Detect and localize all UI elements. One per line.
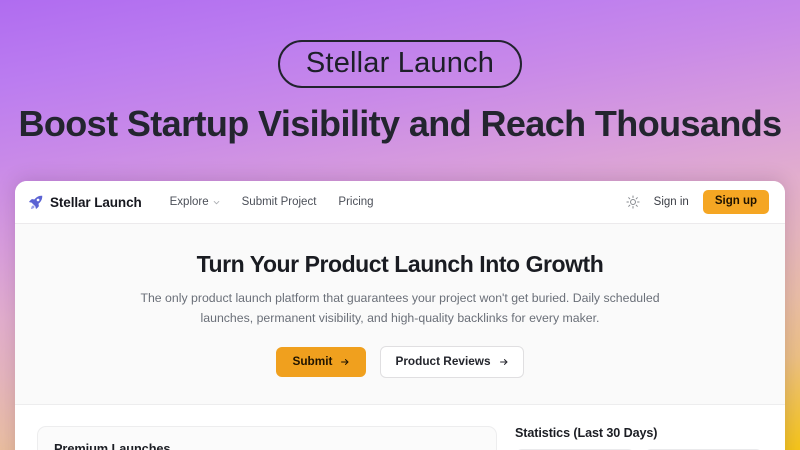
nav-link-pricing[interactable]: Pricing — [338, 196, 373, 208]
promo-headline: Boost Startup Visibility and Reach Thous… — [0, 104, 800, 144]
nav-link-explore-label: Explore — [170, 196, 209, 208]
nav-links: Explore Submit Project Pricing — [170, 196, 374, 208]
brand-pill: Stellar Launch — [278, 40, 522, 88]
content-area: Premium Launches Statistics (Last 30 Day… — [15, 405, 785, 450]
nav-link-submit-project[interactable]: Submit Project — [242, 196, 317, 208]
hero-title: Turn Your Product Launch Into Growth — [15, 251, 785, 277]
app-window: Stellar Launch Explore Submit Project Pr… — [15, 181, 785, 450]
hero-subtitle: The only product launch platform that gu… — [140, 289, 660, 329]
promo-canvas: Stellar Launch Boost Startup Visibility … — [0, 0, 800, 450]
hero-cta-group: Submit Product Reviews — [15, 346, 785, 378]
nav-link-explore[interactable]: Explore — [170, 196, 220, 208]
navbar-actions: Sign in Sign up — [626, 190, 769, 215]
promo-header: Stellar Launch Boost Startup Visibility … — [0, 0, 800, 144]
statistics-title: Statistics (Last 30 Days) — [515, 426, 763, 440]
product-reviews-button[interactable]: Product Reviews — [380, 346, 523, 378]
premium-launches-panel: Premium Launches — [37, 426, 497, 450]
navbar: Stellar Launch Explore Submit Project Pr… — [15, 181, 785, 224]
nav-brand[interactable]: Stellar Launch — [27, 194, 142, 211]
arrow-right-icon — [340, 357, 350, 367]
arrow-right-icon — [499, 357, 509, 367]
hero-section: Turn Your Product Launch Into Growth The… — [15, 224, 785, 405]
signup-button[interactable]: Sign up — [703, 190, 769, 215]
submit-button[interactable]: Submit — [276, 347, 366, 377]
statistics-column: Statistics (Last 30 Days) 273 Launches 1… — [515, 426, 763, 450]
nav-brand-label: Stellar Launch — [50, 195, 142, 210]
submit-button-label: Submit — [292, 356, 332, 368]
product-reviews-button-label: Product Reviews — [395, 356, 490, 368]
signin-link[interactable]: Sign in — [654, 196, 689, 208]
sun-icon[interactable] — [626, 195, 640, 209]
premium-launches-column: Premium Launches — [37, 426, 497, 450]
rocket-icon — [27, 194, 44, 211]
chevron-down-icon — [213, 199, 220, 206]
premium-launches-title: Premium Launches — [54, 441, 480, 450]
nav-link-pricing-label: Pricing — [338, 196, 373, 208]
nav-link-submit-project-label: Submit Project — [242, 196, 317, 208]
